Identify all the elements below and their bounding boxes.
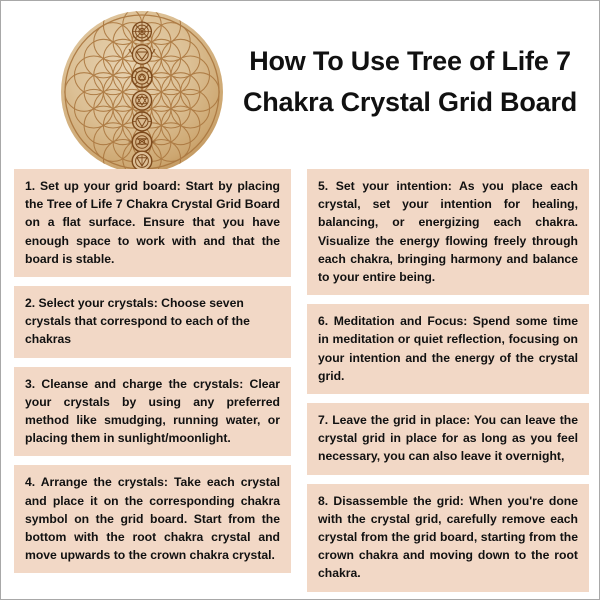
crown-chakra-symbol [133,22,152,41]
step-card-4: 4. Arrange the crystals: Take each cryst… [14,465,291,573]
throat-chakra-symbol [132,68,152,88]
page-title: How To Use Tree of Life 7 Chakra Crystal… [229,41,591,123]
flower-of-life-board-svg [59,9,225,175]
heart-chakra-symbol [132,91,151,110]
infographic-page: How To Use Tree of Life 7 Chakra Crystal… [0,0,600,600]
step-card-1: 1. Set up your grid board: Start by plac… [14,169,291,277]
crystal-grid-board-image [59,9,225,175]
step-card-7: 7. Leave the grid in place: You can leav… [307,403,589,475]
root-chakra-symbol [132,151,152,171]
step-card-5: 5. Set your intention: As you place each… [307,169,589,295]
solar-plexus-chakra-symbol [133,112,152,131]
steps-column-right: 5. Set your intention: As you place each… [307,169,589,592]
step-card-6: 6. Meditation and Focus: Spend some time… [307,304,589,394]
step-card-8: 8. Disassemble the grid: When you're don… [307,484,589,592]
header: How To Use Tree of Life 7 Chakra Crystal… [1,1,599,169]
steps-column-left: 1. Set up your grid board: Start by plac… [14,169,291,573]
step-card-3: 3. Cleanse and charge the crystals: Clea… [14,367,291,457]
step-card-2: 2. Select your crystals: Choose seven cr… [14,286,291,358]
